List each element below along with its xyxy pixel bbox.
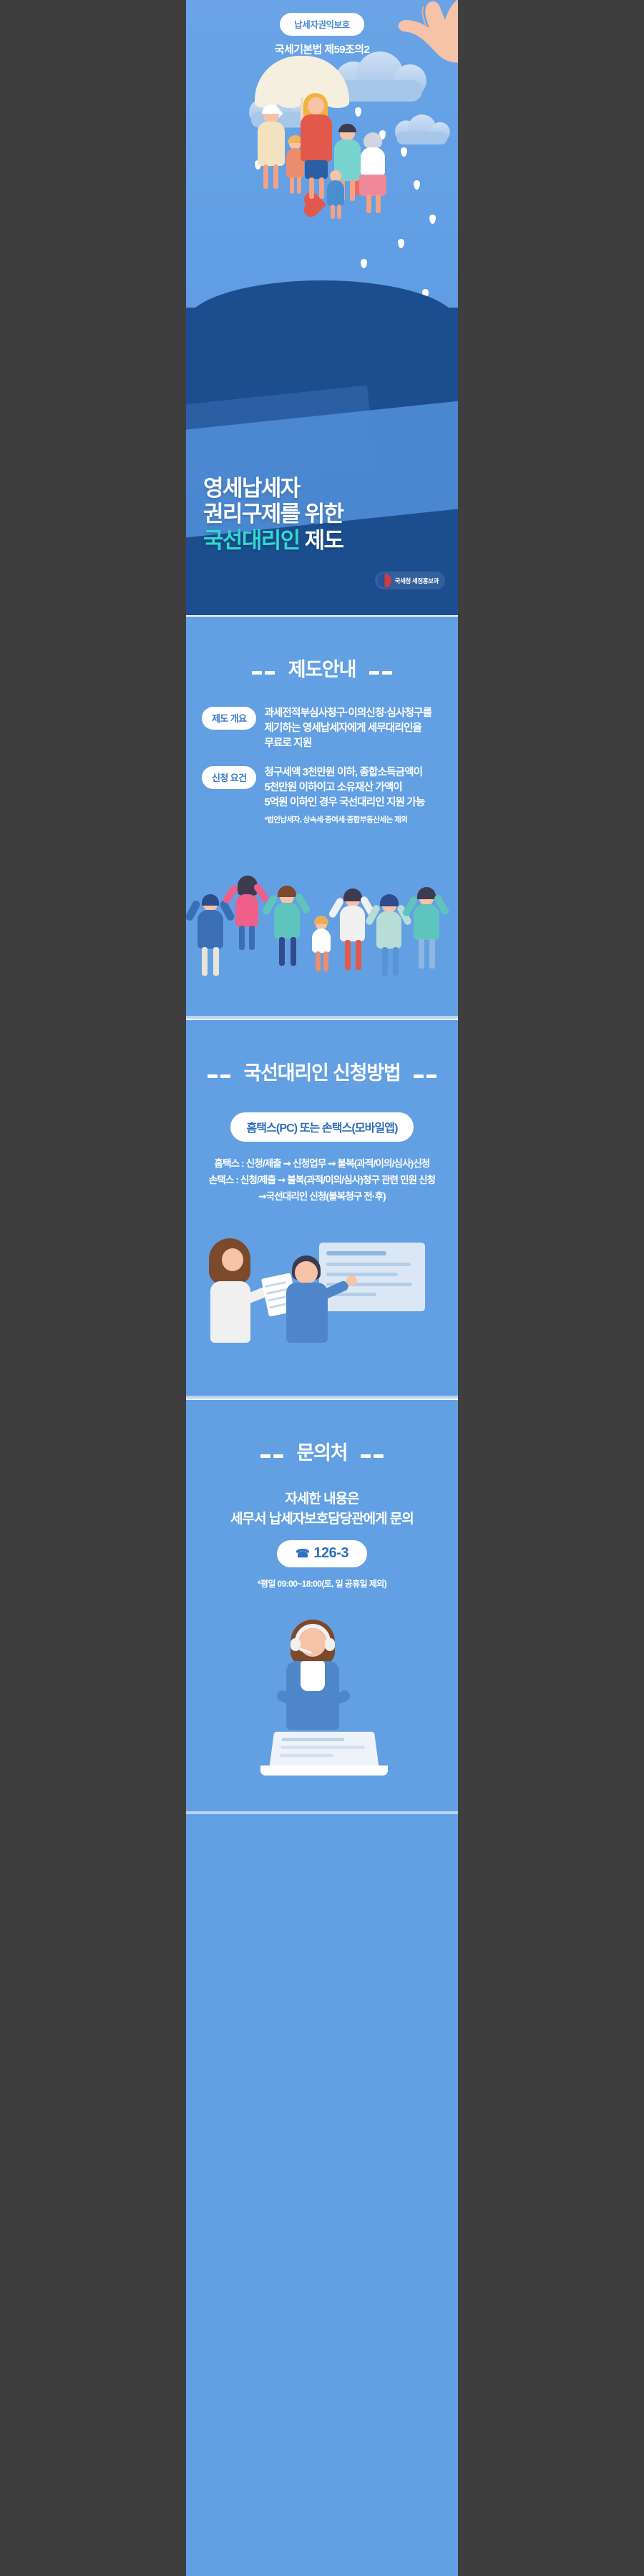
umbrella-icon <box>255 56 349 103</box>
section-contact-header: 문의처 <box>186 1400 458 1489</box>
raindrop <box>398 239 404 248</box>
section-contact-title: 문의처 <box>297 1437 348 1465</box>
apply-channel-pill: 홈택스(PC) 또는 손택스(모바일앱) <box>230 1112 413 1142</box>
consulting-illustration <box>186 1213 458 1399</box>
laptop-base <box>260 1766 388 1776</box>
apply-step-line: 홈택스 : 신청/제출 ➞ 신청업무 ➞ 불복(과적/이의/심사)신청 <box>200 1156 444 1172</box>
section-system-guide: 제도안내 제도 개요 과세전적부심사청구·이의신청·심사청구를 제기하는 영세납… <box>186 617 458 1019</box>
raindrop <box>429 215 436 224</box>
system-row-label: 신청 요건 <box>202 766 256 789</box>
dash-icon <box>206 1070 232 1083</box>
system-row-line: 무료로 지원 <box>264 736 431 751</box>
section-apply-method: 국선대리인 신청방법 홈택스(PC) 또는 손택스(모바일앱) 홈택스 : 신청… <box>186 1020 458 1399</box>
contact-line1: 자세한 내용은 <box>200 1489 444 1509</box>
dash-icon <box>359 1450 385 1463</box>
apply-steps: 홈택스 : 신청/제출 ➞ 신청업무 ➞ 불복(과적/이의/심사)신청 손택스 … <box>186 1156 458 1205</box>
nts-logo-label: 국세청 세정홍보과 <box>395 577 439 585</box>
raindrop <box>361 259 367 268</box>
system-row: 제도 개요 과세전적부심사청구·이의신청·심사청구를 제기하는 영세납세자에게 … <box>202 706 442 751</box>
section-system-title: 제도안내 <box>288 654 356 682</box>
infographic-poster: 납세자권익보호 국세기본법 제59조의2 <box>186 0 458 2576</box>
system-row-line: 제기하는 영세납세자에게 세무대리인을 <box>264 721 431 736</box>
contact-line2: 세무서 납세자보호담당관에게 문의 <box>200 1509 444 1529</box>
system-row-line: 과세전적부심사청구·이의신청·심사청구를 <box>264 706 431 721</box>
dash-icon <box>259 1450 285 1463</box>
hero-badge-subtitle: 국세기본법 제59조의2 <box>186 41 458 57</box>
system-row-note: *법인납세자, 상속세·증여세·종합부동산세는 제외 <box>264 815 424 826</box>
hero-headline: 영세납세자 권리구제를 위한 국선대리인 제도 <box>203 476 343 554</box>
hero-badge-group: 납세자권익보호 국세기본법 제59조의2 <box>186 13 458 57</box>
contact-hours: *평일 09:00~18:00(토, 일 공휴일 제외) <box>200 1577 444 1590</box>
system-row-line: 5억원 이하인 경우 국선대리인 지원 가능 <box>264 795 424 810</box>
contact-block: 자세한 내용은 세무서 납세자보호담당관에게 문의 ☎126-3 *평일 09:… <box>186 1489 458 1590</box>
contact-phone-number: 126-3 <box>313 1545 348 1561</box>
dash-icon <box>250 667 276 680</box>
dash-icon <box>368 667 394 680</box>
apply-channel-wrap: 홈택스(PC) 또는 손택스(모바일앱) <box>186 1112 458 1142</box>
section-contact: 문의처 자세한 내용은 세무서 납세자보호담당관에게 문의 ☎126-3 *평일… <box>186 1400 458 1814</box>
section-system-header: 제도안내 <box>186 617 458 706</box>
apply-step-line: 손택스 : 신청/제출 ➞ 불복(과적/이의/심사)청구 관련 민원 신청 <box>200 1172 444 1189</box>
celebration-crowd-illustration <box>186 840 458 1019</box>
nts-emblem-icon <box>378 574 391 587</box>
nts-logo: 국세청 세정홍보과 <box>375 572 445 589</box>
raindrop <box>355 107 361 117</box>
laptop-screen <box>270 1732 379 1766</box>
raindrop <box>401 147 407 157</box>
apply-step-line: ➞국선대리인 신청(불복청구 전·후) <box>200 1189 444 1205</box>
ground-line <box>186 1811 458 1814</box>
system-row: 신청 요건 청구세액 3천만원 이하, 종합소득금액이 5천만원 이하이고 소유… <box>202 765 442 826</box>
telephone-icon: ☎ <box>296 1548 309 1560</box>
hero-headline-line3: 국선대리인 제도 <box>203 528 343 554</box>
screen-board <box>319 1243 425 1311</box>
system-rows: 제도 개요 과세전적부심사청구·이의신청·심사청구를 제기하는 영세납세자에게 … <box>186 706 458 826</box>
hero-headline-line2: 권리구제를 위한 <box>203 501 343 527</box>
contact-phone-pill[interactable]: ☎126-3 <box>277 1540 367 1567</box>
system-row-label: 제도 개요 <box>202 707 256 730</box>
hero-headline-rest: 제도 <box>300 528 343 553</box>
hero-headline-highlight: 국선대리인 <box>203 528 300 554</box>
dash-icon <box>412 1070 438 1083</box>
raindrop <box>414 180 420 190</box>
hero-section: 납세자권익보호 국세기본법 제59조의2 <box>186 0 458 615</box>
section-apply-title: 국선대리인 신청방법 <box>243 1057 400 1085</box>
call-agent-illustration <box>186 1600 458 1814</box>
hero-headline-line1: 영세납세자 <box>203 476 343 501</box>
system-row-body: 청구세액 3천만원 이하, 종합소득금액이 5천만원 이하이고 소유재산 가액이… <box>264 765 424 826</box>
system-row-line: 5천만원 이하이고 소유재산 가액이 <box>264 780 424 795</box>
hero-badge-pill: 납세자권익보호 <box>280 13 364 36</box>
system-row-body: 과세전적부심사청구·이의신청·심사청구를 제기하는 영세납세자에게 세무대리인을… <box>264 706 431 751</box>
section-apply-header: 국선대리인 신청방법 <box>186 1020 458 1110</box>
system-row-line: 청구세액 3천만원 이하, 종합소득금액이 <box>264 765 424 780</box>
